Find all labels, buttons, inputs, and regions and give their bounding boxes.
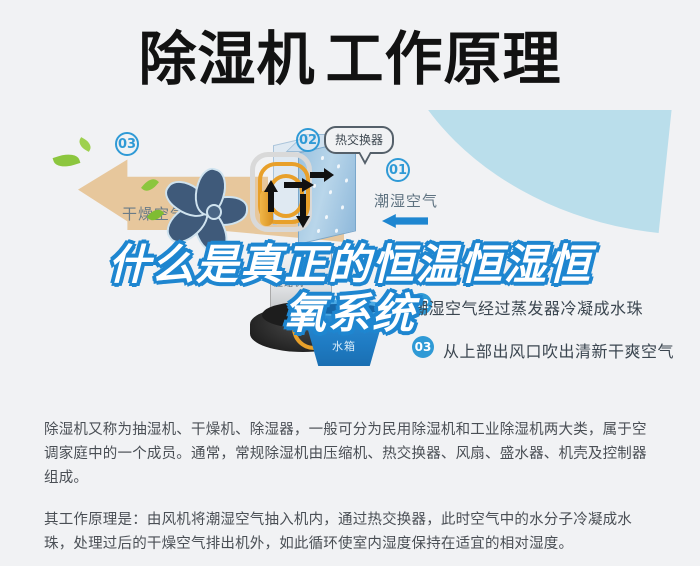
pipe-inner [268,174,304,218]
page-title-part2: 工作原理 [326,25,562,93]
page-title-part1: 除湿机 [138,25,315,93]
humid-air-label: 潮湿空气 [374,190,438,211]
water-tank-opening [307,304,381,314]
callout-tail-inner [360,152,370,161]
note-text-1: 潮湿空气经过蒸发器冷凝成水珠 [412,295,643,319]
note-text-2: 从上部出风口吹出清新干爽空气 [443,338,674,362]
receiver-cylinder [260,190,273,226]
heat-exchanger-callout-label: 热交换器 [335,133,383,147]
page-title: 除湿机工作原理 [0,22,700,96]
leaf-icon [53,150,81,170]
note-badge-2: 03 [412,336,434,358]
compressor-label: 压缩机 [274,276,304,289]
refrigerant-pipes [248,148,326,244]
badge-dry-air: 03 [115,132,139,156]
infographic-page: 除湿机工作原理 干燥空气 [0,0,700,566]
body-paragraph-1: 除湿机又称为抽湿机、干燥机、除湿器，一般可分为民用除湿机和工业除湿机两大类，属于… [44,418,660,490]
body-copy: 除湿机又称为抽湿机、干燥机、除湿器，一般可分为民用除湿机和工业除湿机两大类，属于… [44,418,660,556]
heat-exchanger-callout: 热交换器 [324,126,394,154]
dehumidifier-diagram: 干燥空气 [0,110,700,395]
fan-hub [206,204,222,220]
water-tank-label: 水箱 [332,338,356,354]
water-tank: 水箱 [298,300,390,366]
leaf-icon [77,137,94,152]
badge-heat-exchanger: 02 [296,128,320,152]
badge-humid-air: 01 [386,158,410,182]
body-paragraph-2: 其工作原理是：由风机将潮湿空气抽入机内，通过热交换器，此时空气中的水分子冷凝成水… [44,508,660,556]
water-tank-body [298,308,390,366]
